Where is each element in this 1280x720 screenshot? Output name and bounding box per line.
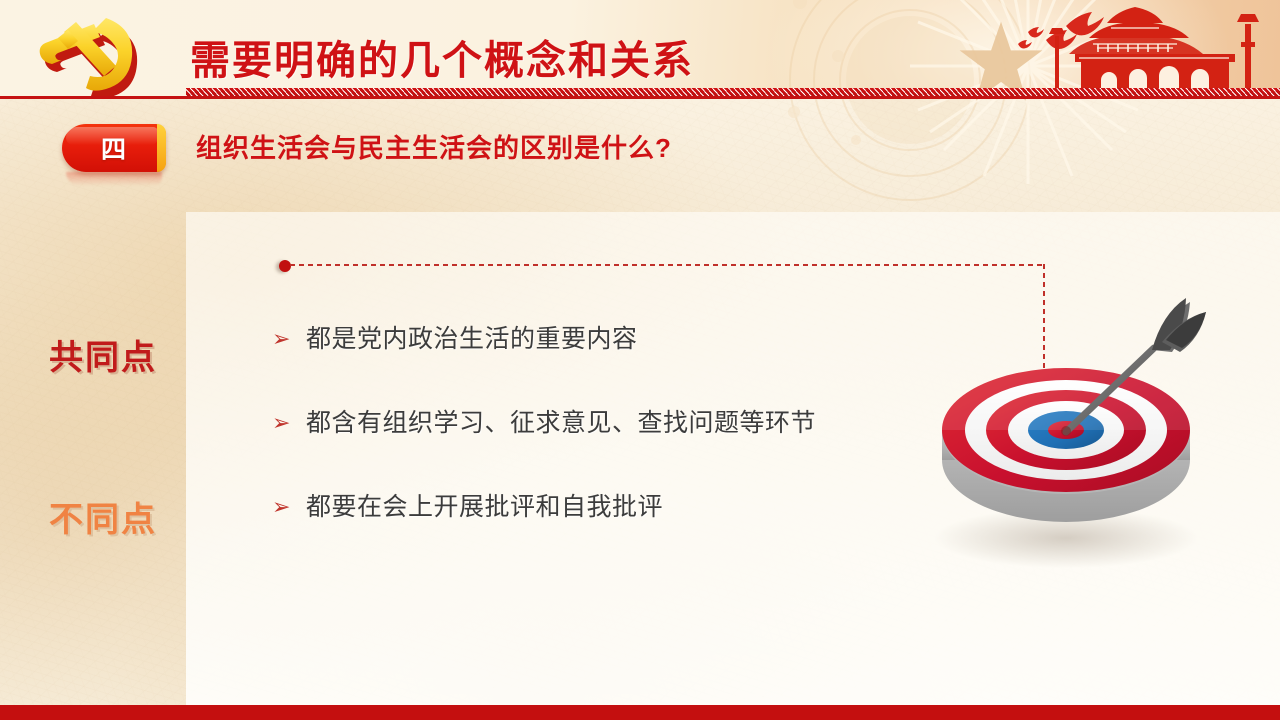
- arrow-bullet-icon: ➢: [272, 490, 306, 524]
- badge-number-label: 四: [62, 124, 166, 172]
- dartboard-with-dart-icon: [900, 280, 1230, 580]
- slide-root: 需要明确的几个概念和关系 四 组织生活会与民主生活会的区别是什么? 共同点 不同…: [0, 0, 1280, 720]
- header-bottom-rule: [0, 96, 1280, 99]
- connector-horizontal-dashed-line: [290, 264, 1045, 266]
- connector-start-dot: [279, 260, 291, 272]
- arrow-bullet-icon: ➢: [272, 322, 306, 356]
- side-tab-common-points[interactable]: 共同点: [28, 330, 178, 379]
- list-item: ➢ 都要在会上开展批评和自我批评: [272, 490, 892, 524]
- title-underline: [186, 88, 1280, 96]
- list-item-text: 都含有组织学习、征求意见、查找问题等环节: [306, 406, 816, 440]
- list-item: ➢ 都是党内政治生活的重要内容: [272, 322, 892, 356]
- badge-reflection: [66, 172, 162, 186]
- arrow-bullet-icon: ➢: [272, 406, 306, 440]
- list-item-text: 都是党内政治生活的重要内容: [306, 322, 638, 356]
- party-hammer-sickle-emblem: [36, 12, 158, 100]
- list-item: ➢ 都含有组织学习、征求意见、查找问题等环节: [272, 406, 892, 440]
- tiananmen-gate-icon: [1045, 0, 1280, 98]
- page-title: 需要明确的几个概念和关系: [190, 28, 694, 86]
- section-subtitle: 组织生活会与民主生活会的区别是什么?: [196, 128, 672, 165]
- side-tab-different-points[interactable]: 不同点: [28, 492, 178, 541]
- footer-bar: [0, 705, 1280, 720]
- bullet-list: ➢ 都是党内政治生活的重要内容 ➢ 都含有组织学习、征求意见、查找问题等环节 ➢…: [272, 322, 892, 574]
- list-item-text: 都要在会上开展批评和自我批评: [306, 490, 663, 524]
- section-number-badge[interactable]: 四: [62, 124, 166, 172]
